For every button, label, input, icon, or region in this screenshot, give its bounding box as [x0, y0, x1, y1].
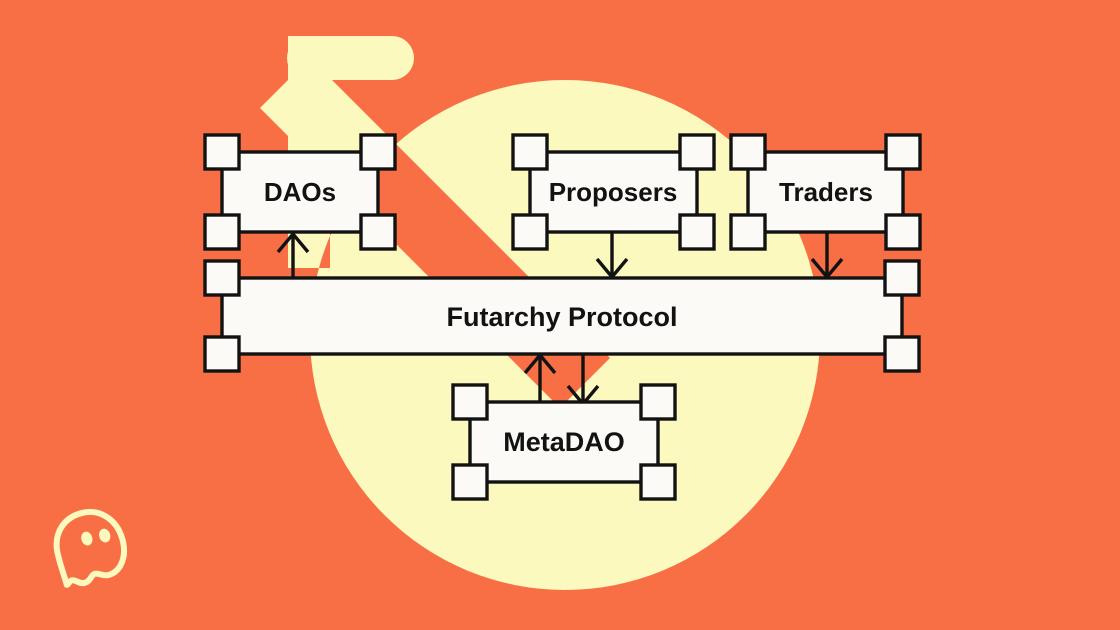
ghost-eye-left: [80, 530, 94, 546]
brand-logo[interactable]: [0, 0, 1120, 630]
diagram-canvas: DAOs Proposers Traders Futarc: [0, 0, 1120, 630]
ghost-icon[interactable]: [48, 504, 131, 588]
ghost-eye-right: [97, 527, 111, 543]
ghost-body-outline: [48, 504, 131, 588]
